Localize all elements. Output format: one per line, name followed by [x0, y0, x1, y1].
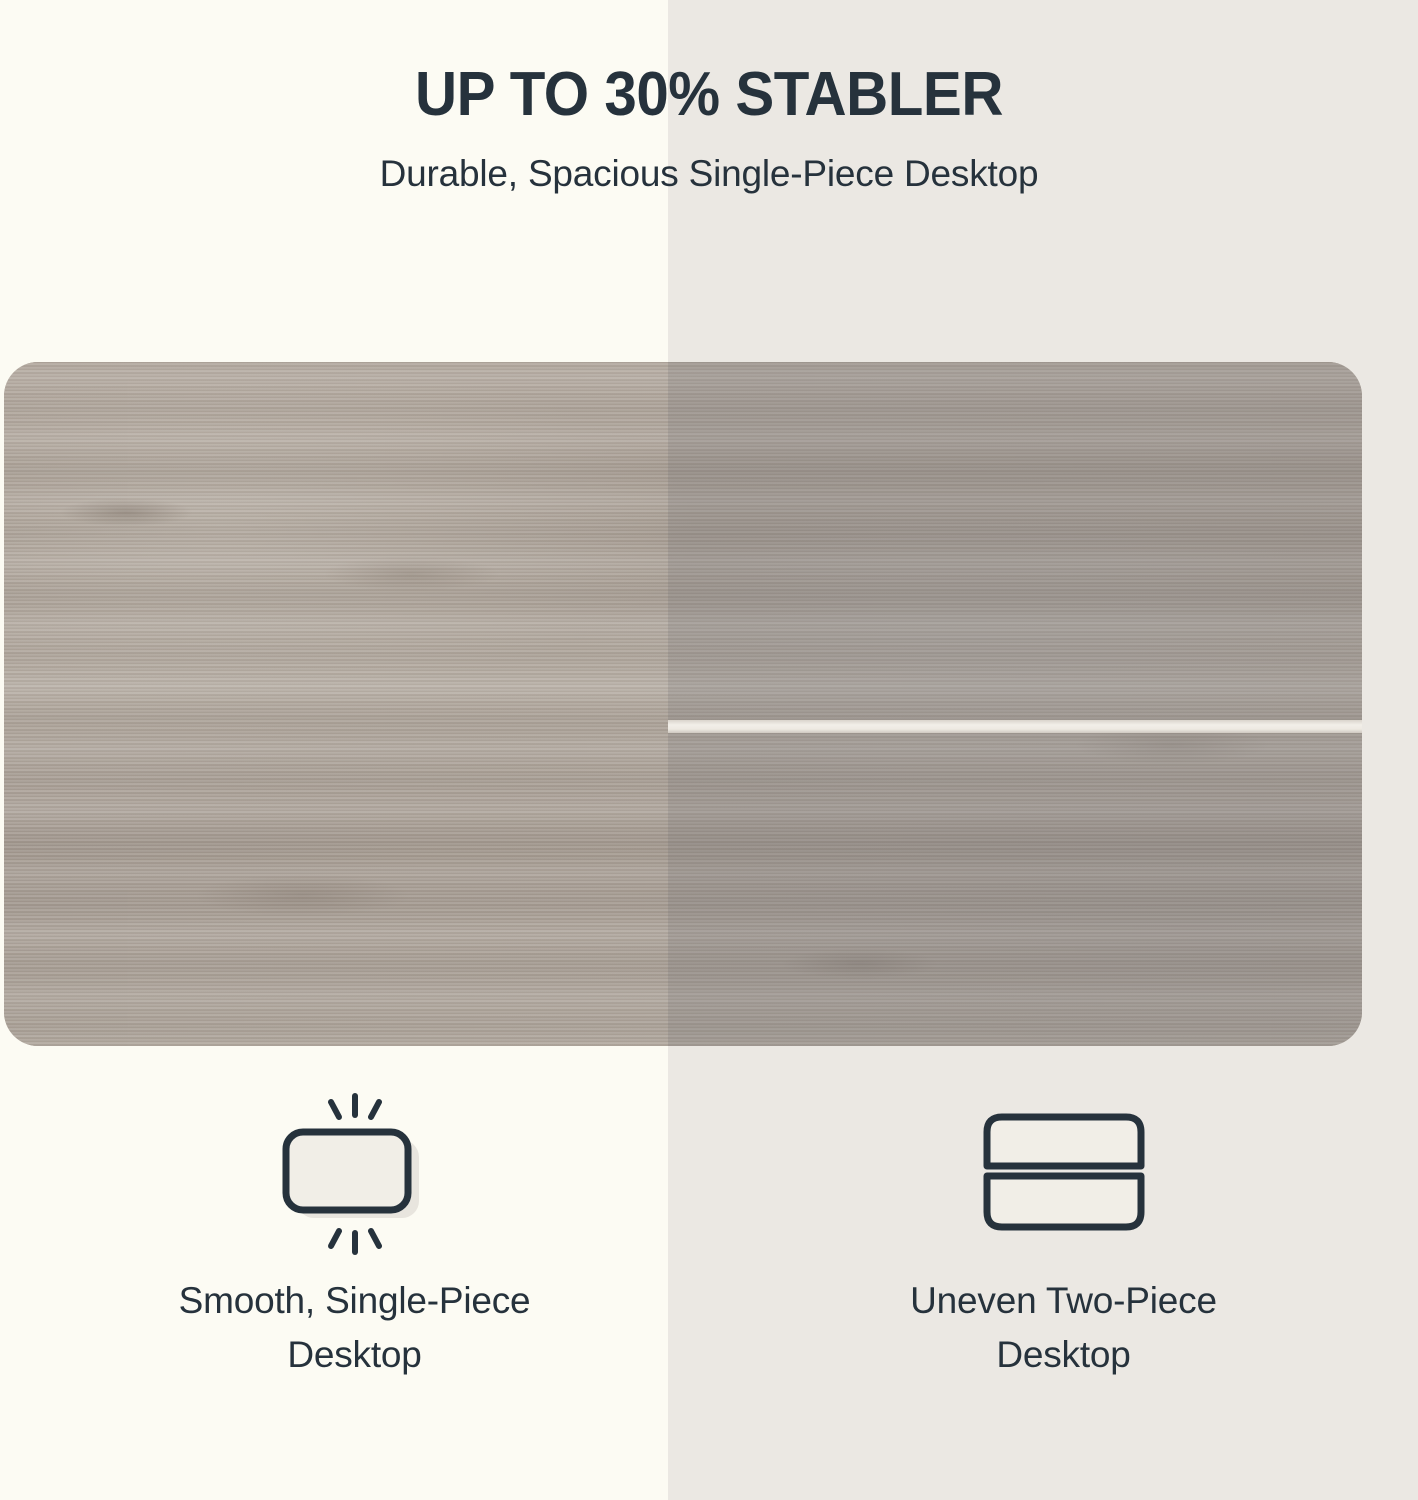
comparison-column-bad: Uneven Two-Piece Desktop — [709, 1090, 1418, 1430]
headline: UP TO 30% STABLER — [43, 62, 1376, 128]
product-comparison-infographic: UP TO 30% STABLER Durable, Spacious Sing… — [0, 0, 1418, 1500]
panel-outline — [286, 1132, 408, 1210]
upper-piece — [987, 1117, 1141, 1166]
sparkle-bottom — [331, 1231, 379, 1252]
caption-good: Smooth, Single-Piece Desktop — [125, 1274, 585, 1381]
single-panel-sparkle-icon — [267, 1090, 443, 1258]
icon-slot-good — [267, 1090, 443, 1258]
caption-bad: Uneven Two-Piece Desktop — [834, 1274, 1294, 1381]
comparison-columns: Smooth, Single-Piece Desktop Uneven Two-… — [0, 1090, 1418, 1430]
header: UP TO 30% STABLER Durable, Spacious Sing… — [0, 62, 1418, 196]
lower-piece — [987, 1176, 1141, 1227]
desktop-panel-surface — [4, 362, 1362, 1046]
comparison-column-good: Smooth, Single-Piece Desktop — [0, 1090, 709, 1430]
subheadline: Durable, Spacious Single-Piece Desktop — [0, 152, 1418, 196]
two-piece-seam — [668, 720, 1362, 733]
desktop-panel — [4, 362, 1362, 1046]
icon-slot-bad — [976, 1090, 1152, 1258]
split-panel-icon — [976, 1090, 1152, 1258]
right-half-shade — [668, 362, 1362, 1046]
sparkle-top — [331, 1096, 379, 1117]
